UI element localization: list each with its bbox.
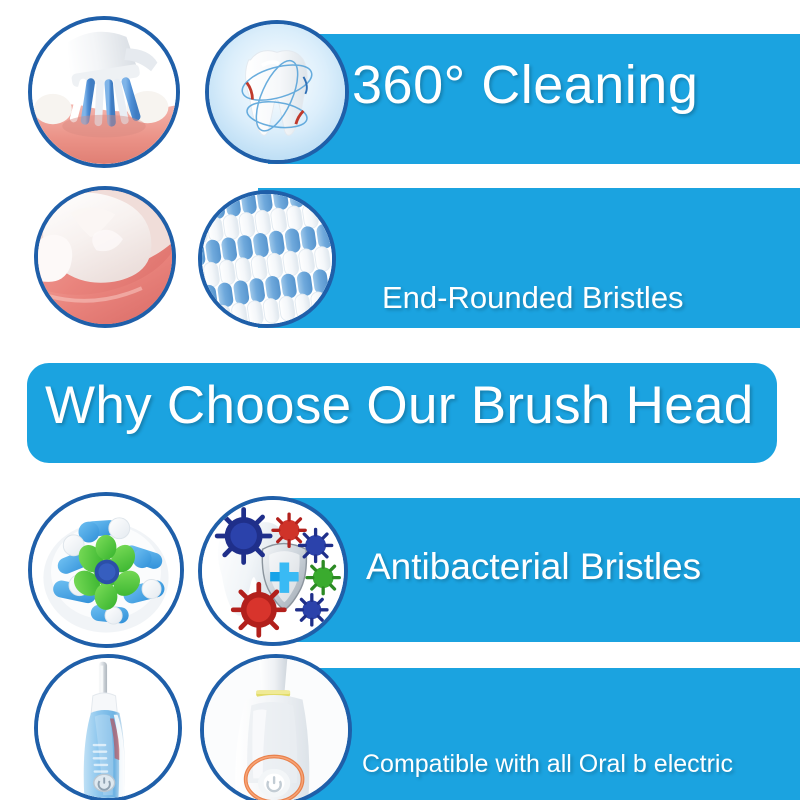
blue-toothbrush-handle-photo bbox=[34, 654, 182, 800]
tooth-360-orbit-photo bbox=[205, 20, 349, 164]
text-block-compatibility: Compatible with all Oral b electric toot… bbox=[362, 678, 733, 800]
headline-360-cleaning: 360° Cleaning bbox=[352, 54, 698, 118]
tooth-shield-germs-photo bbox=[198, 496, 348, 646]
colored-bristle-tufts-photo bbox=[28, 492, 184, 648]
headline-why-choose-our-brush-head: Why Choose Our Brush Head bbox=[45, 375, 754, 438]
brush-head-on-gums-photo bbox=[28, 16, 180, 168]
white-handle-attachment-photo bbox=[200, 654, 352, 800]
body-line-1-compatibility: Compatible with all Oral b electric bbox=[362, 747, 733, 782]
product-infographic-poster: 360° Cleaning bbox=[0, 0, 800, 800]
headline-antibacterial-bristles: Antibacterial Bristles bbox=[366, 545, 701, 589]
tooth-gum-closeup-photo bbox=[34, 186, 176, 328]
headline-end-rounded-bristles: End-Rounded Bristles bbox=[382, 280, 718, 317]
rounded-bristle-tips-photo bbox=[198, 190, 336, 328]
